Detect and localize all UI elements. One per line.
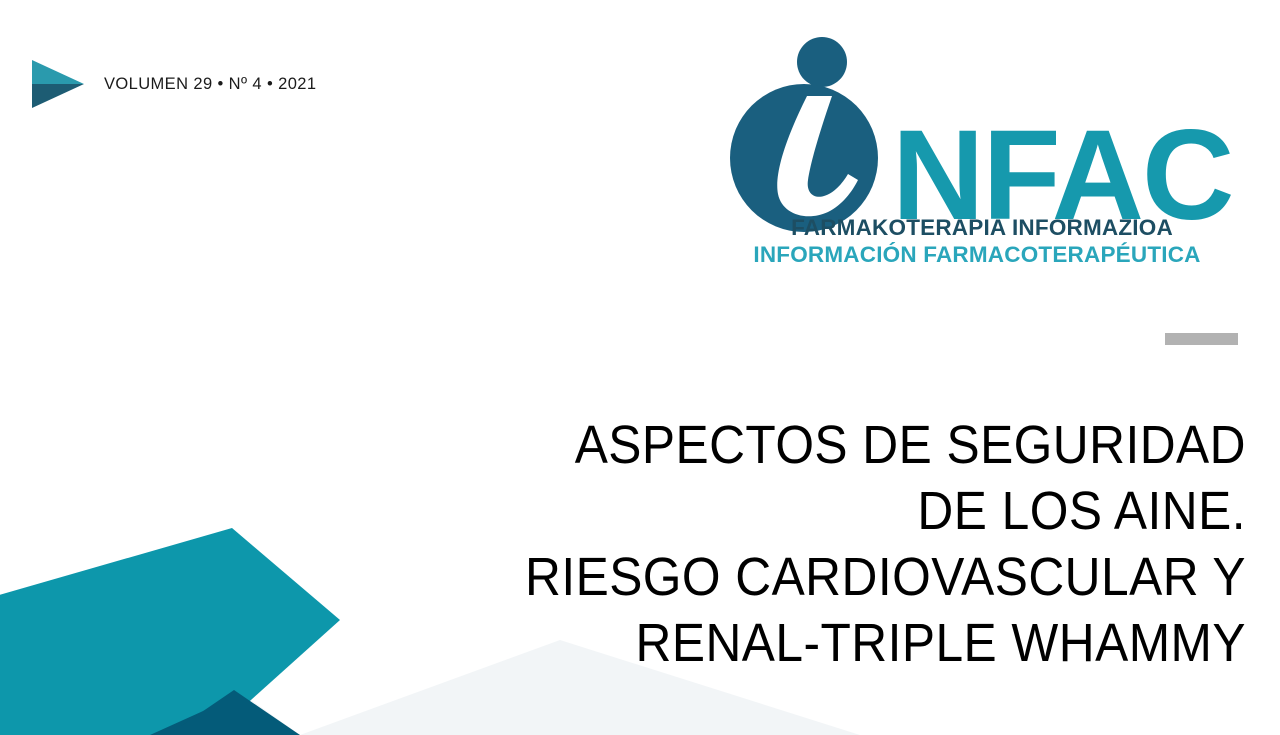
cover-page: VOLUMEN 29 • Nº 4 • 2021 NFAC FARMAKOTER… bbox=[0, 0, 1280, 735]
play-triangle-icon bbox=[28, 58, 86, 110]
logo-subtitle-basque: FARMAKOTERAPIA INFORMAZIOA bbox=[722, 215, 1242, 241]
title-line-3: RIESGO CARDIOVASCULAR Y bbox=[418, 544, 1246, 610]
title-line-1: ASPECTOS DE SEGURIDAD bbox=[418, 412, 1246, 478]
logo-subtitle-spanish: INFORMACIÓN FARMACOTERAPÉUTICA bbox=[712, 242, 1242, 268]
gray-rule-divider bbox=[1165, 333, 1238, 345]
teal-parallelogram bbox=[0, 528, 340, 735]
title-line-2: DE LOS AINE. bbox=[418, 478, 1246, 544]
page-title: ASPECTOS DE SEGURIDAD DE LOS AINE. RIESG… bbox=[346, 412, 1246, 676]
volume-marker: VOLUMEN 29 • Nº 4 • 2021 bbox=[28, 58, 316, 110]
navy-triangle-lower bbox=[168, 690, 300, 735]
infac-logo: NFAC FARMAKOTERAPIA INFORMAZIOA INFORMAC… bbox=[722, 34, 1242, 269]
navy-triangle bbox=[150, 707, 268, 735]
ghost-shape-small bbox=[0, 620, 300, 735]
title-line-4: RENAL-TRIPLE WHAMMY bbox=[418, 610, 1246, 676]
volume-label: VOLUMEN 29 • Nº 4 • 2021 bbox=[104, 75, 316, 94]
